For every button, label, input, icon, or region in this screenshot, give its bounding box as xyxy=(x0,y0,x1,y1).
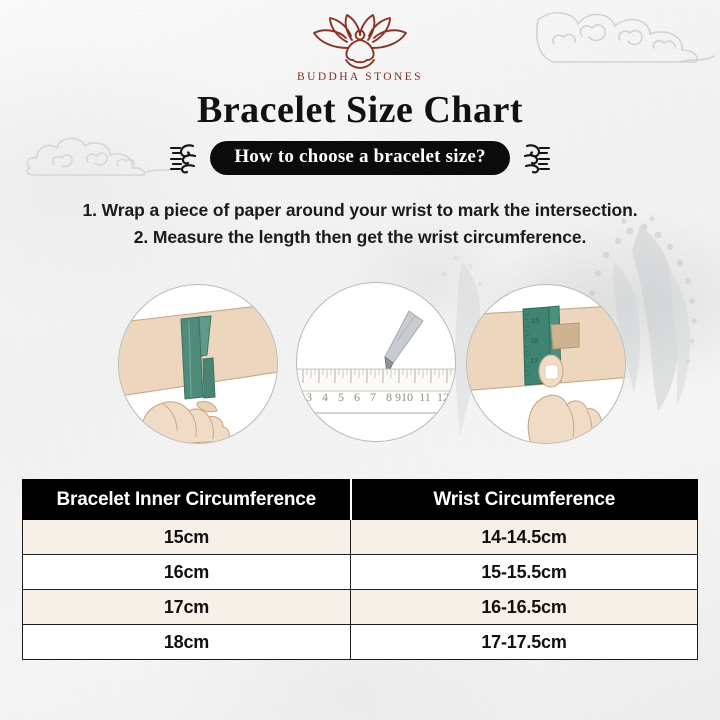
svg-text:5: 5 xyxy=(338,390,344,404)
svg-text:12: 12 xyxy=(437,390,449,404)
svg-text:11: 11 xyxy=(419,390,431,404)
svg-text:15: 15 xyxy=(531,316,539,325)
cell-bracelet-size: 18cm xyxy=(23,625,351,660)
svg-text:6: 6 xyxy=(354,390,360,404)
cell-wrist-size: 15-15.5cm xyxy=(351,555,698,590)
illustration-wrap-paper xyxy=(118,284,278,444)
instruction-step-2: 2. Measure the length then get the wrist… xyxy=(0,224,720,251)
cell-bracelet-size: 15cm xyxy=(23,520,351,555)
column-header-bracelet-inner-circumference: Bracelet Inner Circumference xyxy=(23,480,351,520)
table-row: 16cm 15-15.5cm xyxy=(23,555,698,590)
wrist-with-paper-strip-icon xyxy=(119,285,278,444)
cell-wrist-size: 16-16.5cm xyxy=(351,590,698,625)
ruler-and-pencil-icon: 3 4 5 6 7 8 10 11 12 9 xyxy=(297,283,456,442)
svg-text:16: 16 xyxy=(530,336,538,345)
table-row: 15cm 14-14.5cm xyxy=(23,520,698,555)
svg-text:9: 9 xyxy=(395,390,401,404)
banner-question: How to choose a bracelet size? xyxy=(210,141,509,175)
svg-text:10: 10 xyxy=(401,390,413,404)
illustration-row: 3 4 5 6 7 8 10 11 12 9 xyxy=(0,282,720,454)
cell-bracelet-size: 16cm xyxy=(23,555,351,590)
table-body: 15cm 14-14.5cm 16cm 15-15.5cm 17cm 16-16… xyxy=(23,520,698,660)
brand-logo: BUDDHA STONES xyxy=(0,14,720,83)
instruction-step-1: 1. Wrap a piece of paper around your wri… xyxy=(0,197,720,224)
page-title: Bracelet Size Chart xyxy=(0,88,720,132)
table-header-row: Bracelet Inner Circumference Wrist Circu… xyxy=(23,480,698,520)
cloud-swirl-icon xyxy=(167,142,201,174)
how-to-banner: How to choose a bracelet size? xyxy=(0,141,720,175)
cell-wrist-size: 14-14.5cm xyxy=(351,520,698,555)
column-header-wrist-circumference: Wrist Circumference xyxy=(351,480,698,520)
illustration-ruler-measure: 3 4 5 6 7 8 10 11 12 9 xyxy=(296,282,456,442)
illustration-tape-measure: 15 16 17 xyxy=(466,284,626,444)
svg-text:3: 3 xyxy=(306,390,312,404)
page-background: BUDDHA STONES Bracelet Size Chart How to… xyxy=(0,0,720,720)
size-chart-table: Bracelet Inner Circumference Wrist Circu… xyxy=(22,479,698,660)
brand-name: BUDDHA STONES xyxy=(297,71,423,83)
table-row: 17cm 16-16.5cm xyxy=(23,590,698,625)
cell-wrist-size: 17-17.5cm xyxy=(351,625,698,660)
table-row: 18cm 17-17.5cm xyxy=(23,625,698,660)
svg-text:7: 7 xyxy=(370,390,376,404)
lotus-meditation-icon xyxy=(308,14,412,70)
svg-text:4: 4 xyxy=(322,390,328,404)
cell-bracelet-size: 17cm xyxy=(23,590,351,625)
table-header: Bracelet Inner Circumference Wrist Circu… xyxy=(23,480,698,520)
svg-text:17: 17 xyxy=(530,356,538,365)
wrist-with-measuring-tape-icon: 15 16 17 xyxy=(467,285,626,444)
svg-text:8: 8 xyxy=(386,390,392,404)
cloud-swirl-icon xyxy=(519,142,553,174)
instruction-steps: 1. Wrap a piece of paper around your wri… xyxy=(0,197,720,251)
